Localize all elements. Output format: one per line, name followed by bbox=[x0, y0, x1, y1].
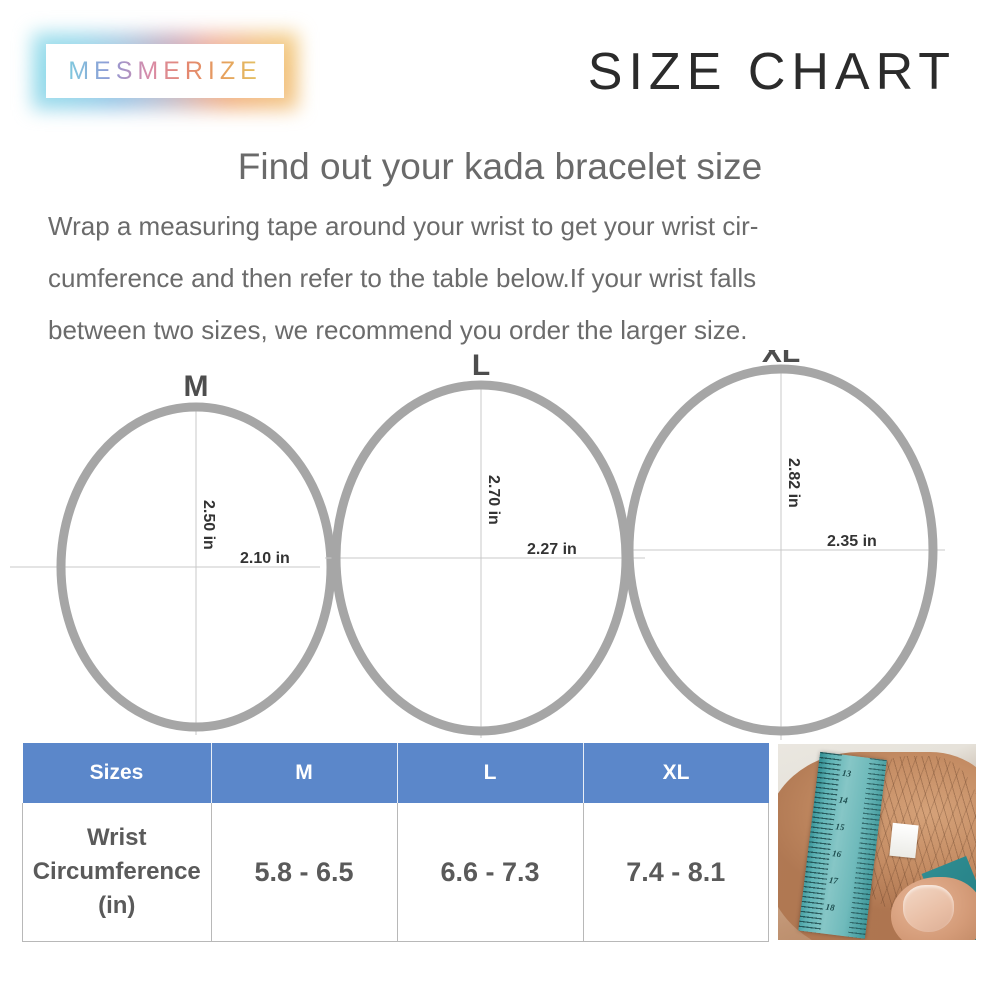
diagram-l-label: L bbox=[472, 350, 490, 382]
photo-tape-number-16: 16 bbox=[831, 848, 841, 859]
diagram-xl: XL 2.82 in 2.35 in bbox=[625, 350, 945, 740]
diagram-xl-label: XL bbox=[762, 350, 800, 369]
instructions-line-1: Wrap a measuring tape around your wrist … bbox=[48, 200, 954, 252]
size-table: Sizes M L XL Wrist Circumference (in) 5.… bbox=[22, 743, 769, 942]
table-header-sizes: Sizes bbox=[23, 743, 212, 803]
photo-tape-number-15: 15 bbox=[835, 821, 845, 832]
photo-tape-number-17: 17 bbox=[828, 874, 838, 885]
table-row: Wrist Circumference (in) 5.8 - 6.5 6.6 -… bbox=[23, 803, 769, 942]
wrist-measurement-photo: 13 14 15 16 17 18 bbox=[778, 744, 976, 940]
diagram-xl-width-label: 2.35 in bbox=[827, 533, 877, 550]
bracelet-diagrams: M 2.50 in 2.10 in L 2.70 in 2.27 in XL 2… bbox=[0, 350, 1000, 745]
page-title: SIZE CHART bbox=[588, 42, 956, 102]
row-label-line-1: Wrist bbox=[87, 824, 147, 851]
table-header-xl: XL bbox=[583, 743, 769, 803]
cell-wrist-xl: 7.4 - 8.1 bbox=[583, 803, 769, 942]
diagram-xl-height-label: 2.82 in bbox=[785, 458, 802, 508]
cell-wrist-m: 5.8 - 6.5 bbox=[211, 803, 397, 942]
photo-tape-tag bbox=[889, 823, 918, 859]
instructions-line-3: between two sizes, we recommend you orde… bbox=[48, 304, 954, 356]
diagram-m-width-label: 2.10 in bbox=[240, 550, 290, 567]
diagram-l-width-label: 2.27 in bbox=[527, 541, 577, 558]
instructions-block: Wrap a measuring tape around your wrist … bbox=[48, 200, 954, 356]
row-label-line-2: Circumference bbox=[33, 858, 201, 885]
table-header-row: Sizes M L XL bbox=[23, 743, 769, 803]
instructions-line-2: cumference and then refer to the table b… bbox=[48, 252, 954, 304]
logo-box: MESMERIZE bbox=[46, 44, 284, 98]
table-header-l: L bbox=[397, 743, 583, 803]
row-label-wrist-circumference: Wrist Circumference (in) bbox=[23, 803, 212, 942]
diagram-m-height-label: 2.50 in bbox=[200, 500, 217, 550]
photo-tape-number-13: 13 bbox=[841, 767, 851, 778]
row-label-line-3: (in) bbox=[98, 892, 135, 919]
photo-tape-number-14: 14 bbox=[838, 794, 848, 805]
diagram-m: M 2.50 in 2.10 in bbox=[10, 370, 331, 735]
diagram-l: L 2.70 in 2.27 in bbox=[325, 350, 645, 738]
cell-wrist-l: 6.6 - 7.3 bbox=[397, 803, 583, 942]
table-header-m: M bbox=[211, 743, 397, 803]
size-chart-page: MESMERIZE SIZE CHART Find out your kada … bbox=[0, 0, 1000, 1000]
brand-logo-text: MESMERIZE bbox=[68, 57, 262, 86]
bracelet-diagram-svg: M 2.50 in 2.10 in L 2.70 in 2.27 in XL 2… bbox=[0, 350, 1000, 745]
photo-tape-number-18: 18 bbox=[825, 901, 835, 912]
brand-logo: MESMERIZE bbox=[46, 44, 284, 98]
photo-thumbnail bbox=[903, 885, 954, 932]
diagram-m-label: M bbox=[184, 370, 209, 403]
diagram-l-height-label: 2.70 in bbox=[485, 475, 502, 525]
headline: Find out your kada bracelet size bbox=[0, 146, 1000, 188]
